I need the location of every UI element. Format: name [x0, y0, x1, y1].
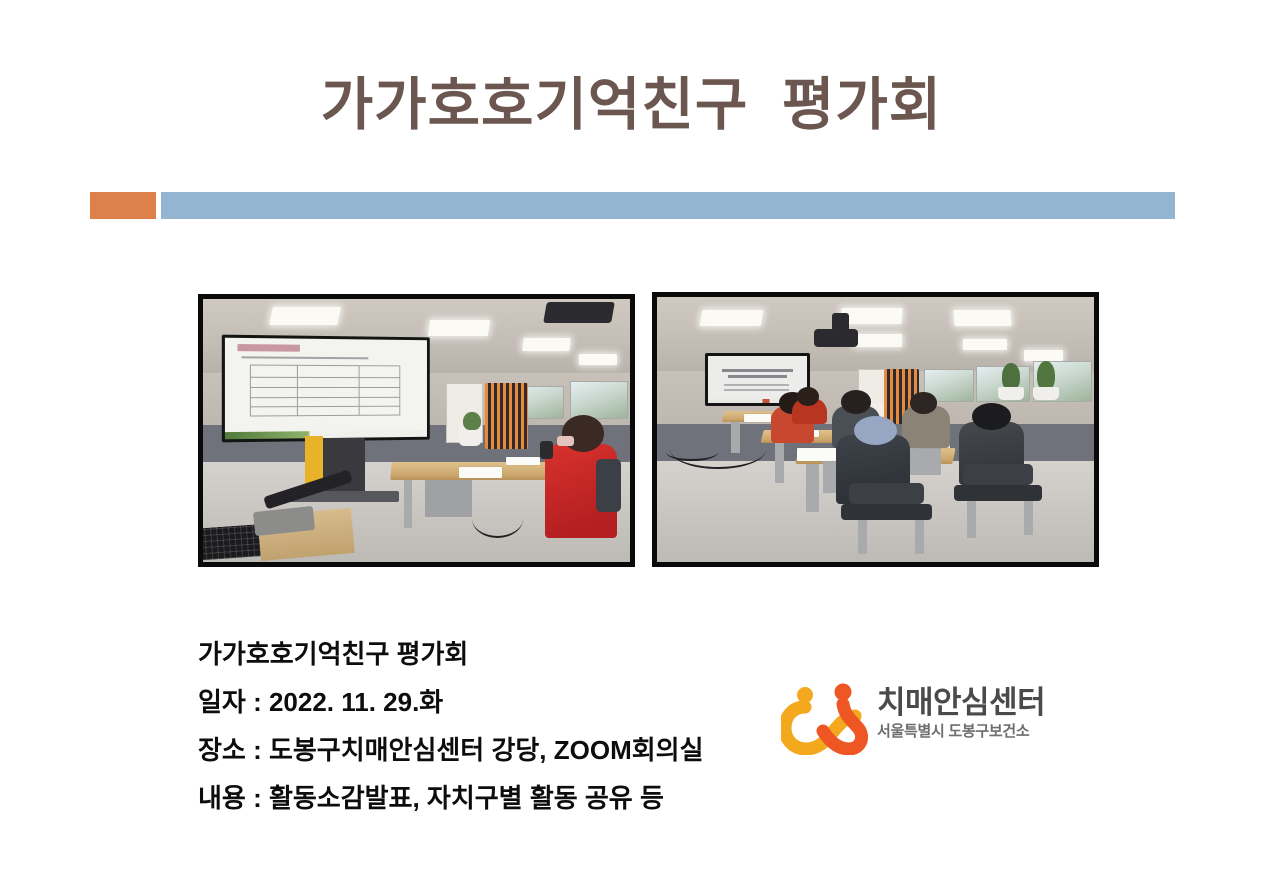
- plant-leaf: [1002, 363, 1019, 390]
- detail-line-location: 장소 : 도봉구치매안심센터 강당, ZOOM회의실: [198, 726, 818, 774]
- ceiling-light: [1024, 350, 1063, 361]
- photo-right-content: [657, 297, 1094, 562]
- dementia-care-center-logo: 치매안심센터 서울특별시 도봉구보건소: [781, 683, 1081, 759]
- chair-leg: [915, 520, 924, 554]
- photo-classroom-presenter: [198, 294, 635, 567]
- screen-slide-table: [251, 364, 401, 417]
- ceiling-light: [963, 339, 1007, 350]
- chair-leg: [967, 501, 976, 538]
- plant-pot: [1033, 387, 1059, 400]
- desk-leg: [775, 443, 784, 483]
- window: [570, 381, 628, 420]
- chair-leg: [858, 520, 867, 554]
- desk-panel: [425, 480, 472, 517]
- projector-icon: [814, 329, 858, 348]
- ceiling-light: [269, 307, 341, 325]
- divider-accent-block: [90, 192, 156, 219]
- presentation-slide: 가가호호기억친구 평가회: [0, 0, 1263, 892]
- chair-seat: [954, 485, 1041, 501]
- ceiling-light: [954, 310, 1012, 326]
- projector-mount: [832, 313, 849, 332]
- photo-classroom-audience: [652, 292, 1099, 567]
- desk-leg: [806, 464, 819, 512]
- paper-sheet: [506, 457, 540, 465]
- chair-leg: [1024, 501, 1033, 535]
- ceiling-light: [428, 320, 490, 336]
- divider-bar: [161, 192, 1175, 219]
- microphone-icon: [540, 441, 553, 459]
- photo-left-content: [203, 299, 630, 562]
- logo-text-block: 치매안심센터 서울특별시 도봉구보건소: [877, 685, 1045, 743]
- person-head: [910, 392, 936, 413]
- event-details: 가가호호기억친구 평가회 일자 : 2022. 11. 29.화 장소 : 도봉…: [198, 630, 818, 822]
- ceiling-light: [854, 334, 902, 347]
- ceiling-light: [523, 338, 571, 351]
- paper-sheet: [744, 414, 770, 422]
- face-mask-icon: [557, 436, 574, 447]
- person-head-with-hat: [972, 403, 1011, 430]
- detail-line-content: 내용 : 활동소감발표, 자치구별 활동 공유 등: [198, 774, 818, 822]
- detail-line-date: 일자 : 2022. 11. 29.화: [198, 678, 818, 726]
- ceiling-light: [579, 354, 617, 365]
- chair: [963, 464, 1033, 485]
- paper-sheet: [459, 467, 502, 478]
- plant-leaf: [463, 412, 480, 430]
- person-head: [841, 390, 872, 414]
- screen-slide-line: [242, 356, 369, 359]
- projector-icon: [543, 302, 615, 323]
- chair: [849, 483, 923, 504]
- chair-seat: [841, 504, 933, 520]
- display-screen: [222, 334, 430, 442]
- ceiling-light: [699, 310, 763, 326]
- logo-subtitle: 서울특별시 도봉구보건소: [877, 721, 1045, 743]
- ceiling-light: [840, 308, 902, 324]
- screen-slide-header: [238, 344, 300, 352]
- screen-face: [225, 338, 427, 440]
- page-title: 가가호호기억친구 평가회: [0, 74, 1263, 137]
- desk-leg: [404, 480, 413, 527]
- cable: [472, 499, 523, 538]
- person-head: [797, 387, 819, 406]
- infinity-two-people-icon: [781, 683, 869, 755]
- crutch-rack: [485, 383, 528, 449]
- plant-pot: [998, 387, 1024, 400]
- chair: [596, 459, 622, 512]
- logo-title: 치매안심센터: [877, 685, 1045, 721]
- paper-sheet: [797, 448, 836, 461]
- plant-leaf: [1037, 361, 1054, 390]
- detail-line-program: 가가호호기억친구 평가회: [198, 630, 818, 678]
- cable: [666, 443, 718, 461]
